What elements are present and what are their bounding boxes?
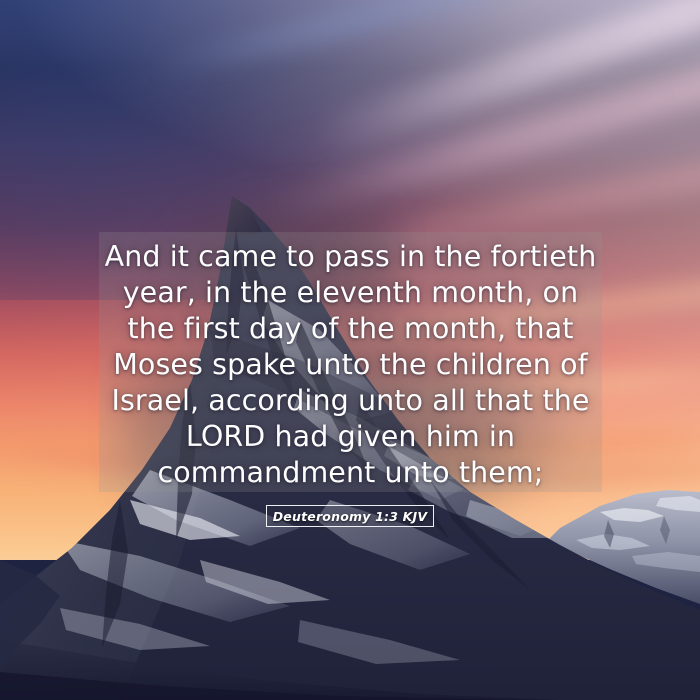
verse-reference-badge: Deuteronomy 1:3 KJV — [266, 505, 434, 527]
verse-line: commandment unto them; — [99, 455, 602, 491]
verse-line: the first day of the month, that — [99, 311, 602, 347]
verse-image-canvas: And it came to pass in the fortieth year… — [0, 0, 700, 700]
verse-text: And it came to pass in the fortieth year… — [99, 239, 602, 491]
verse-line: year, in the eleventh month, on — [99, 275, 602, 311]
verse-line: LORD had given him in — [99, 419, 602, 455]
verse-line: And it came to pass in the fortieth — [99, 239, 602, 275]
verse-line: Israel, according unto all that the — [99, 383, 602, 419]
verse-reference-label: Deuteronomy 1:3 KJV — [273, 509, 428, 524]
verse-line: Moses spake unto the children of — [99, 347, 602, 383]
